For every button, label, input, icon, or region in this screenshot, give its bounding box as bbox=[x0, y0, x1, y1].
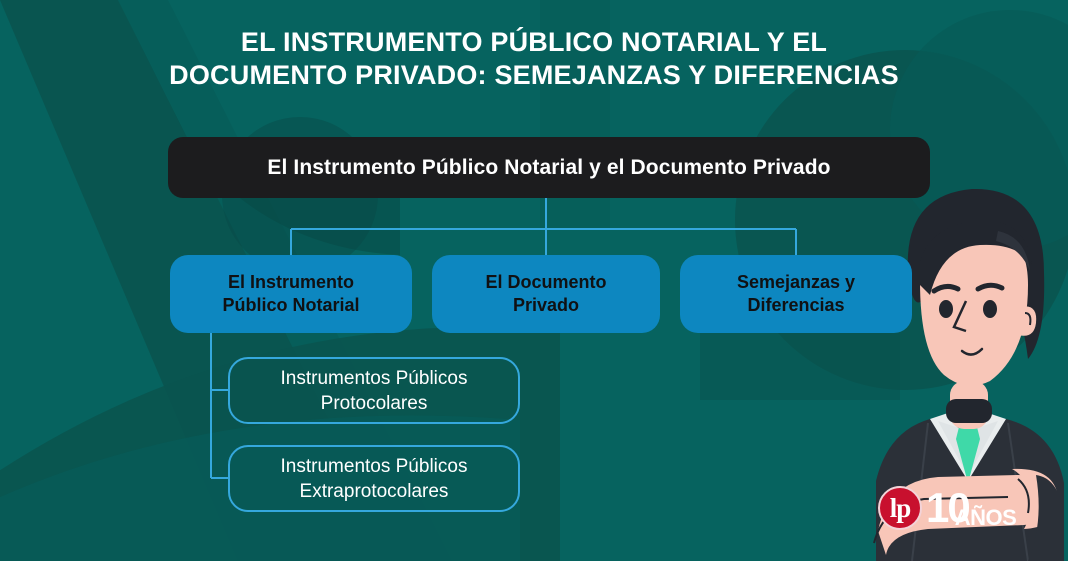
diagram-node-documento-privado[interactable]: El Documento Privado bbox=[432, 255, 660, 333]
diagram-node-sub-2-line-2: Extraprotocolares bbox=[300, 481, 449, 502]
diagram-node-root-label: El Instrumento Público Notarial y el Doc… bbox=[267, 156, 830, 180]
diagram-node-branch-1-line-1: El Instrumento bbox=[228, 272, 354, 292]
diagram-node-sub-2-text: Instrumentos Públicos Extraprotocolares bbox=[281, 454, 468, 504]
diagram-node-root[interactable]: El Instrumento Público Notarial y el Doc… bbox=[168, 137, 930, 198]
diagram-node-semejanzas-y-diferencias[interactable]: Semejanzas y Diferencias bbox=[680, 255, 912, 333]
diagram-node-instrumentos-publicos-protocolares[interactable]: Instrumentos Públicos Protocolares bbox=[228, 357, 520, 424]
diagram-node-branch-3-line-2: Diferencias bbox=[747, 295, 844, 315]
diagram-node-sub-1-line-1: Instrumentos Públicos bbox=[281, 368, 468, 389]
diagram-node-branch-2-text: El Documento Privado bbox=[485, 271, 606, 317]
page-title-line-1: EL INSTRUMENTO PÚBLICO NOTARIAL Y EL bbox=[0, 26, 1068, 59]
diagram-node-branch-2-line-1: El Documento bbox=[485, 272, 606, 292]
diagram-node-branch-1-text: El Instrumento Público Notarial bbox=[222, 271, 359, 317]
diagram-node-instrumentos-publicos-extraprotocolares[interactable]: Instrumentos Públicos Extraprotocolares bbox=[228, 445, 520, 512]
diagram-node-branch-1-line-2: Público Notarial bbox=[222, 295, 359, 315]
diagram-node-branch-2-line-2: Privado bbox=[513, 295, 579, 315]
diagram-node-sub-1-line-2: Protocolares bbox=[321, 393, 428, 414]
diagram-node-branch-3-line-1: Semejanzas y bbox=[737, 272, 855, 292]
page-title-line-2: DOCUMENTO PRIVADO: SEMEJANZAS Y DIFERENC… bbox=[0, 59, 1068, 92]
diagram-node-sub-2-line-1: Instrumentos Públicos bbox=[281, 456, 468, 477]
diagram-node-instrumento-publico-notarial[interactable]: El Instrumento Público Notarial bbox=[170, 255, 412, 333]
logo[interactable]: lp 10 AÑOS bbox=[878, 486, 1016, 530]
page-title: EL INSTRUMENTO PÚBLICO NOTARIAL Y EL DOC… bbox=[0, 26, 1068, 92]
diagram-node-branch-3-text: Semejanzas y Diferencias bbox=[737, 271, 855, 317]
logo-mark-lp: lp bbox=[878, 486, 922, 530]
diagram-node-sub-1-text: Instrumentos Públicos Protocolares bbox=[281, 366, 468, 416]
logo-word-anos: AÑOS bbox=[955, 507, 1017, 529]
